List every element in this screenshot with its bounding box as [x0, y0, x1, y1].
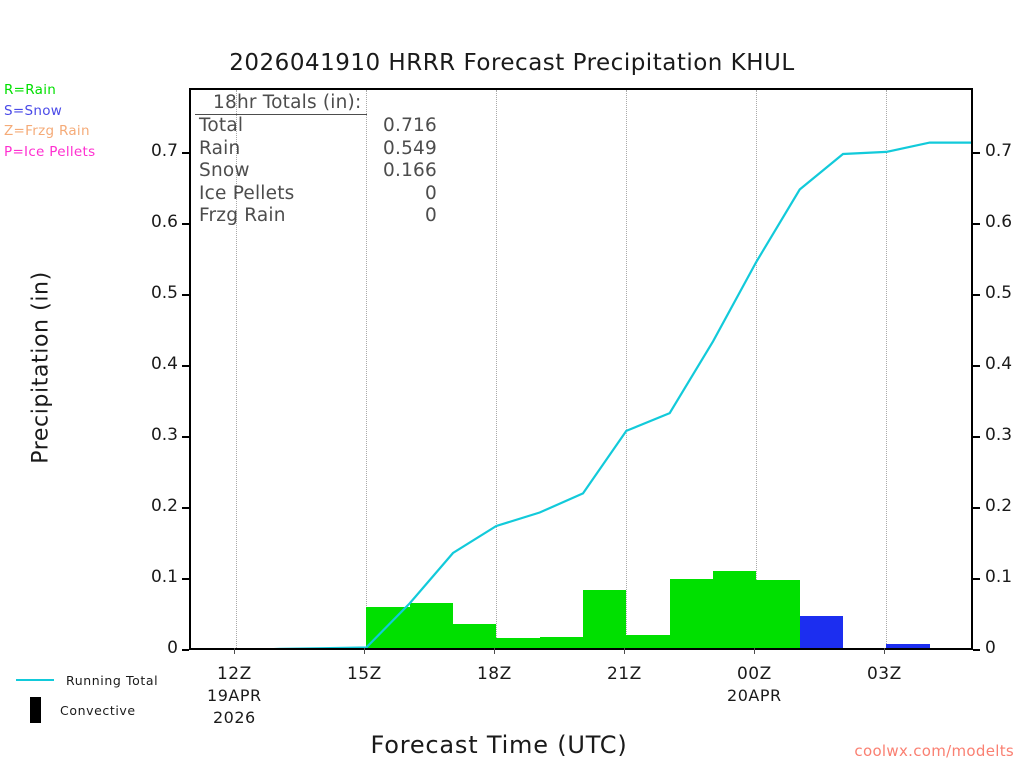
totals-row: Ice Pellets0: [195, 183, 437, 206]
watermark: coolwx.com/modelts: [854, 742, 1014, 760]
totals-row-value: 0.716: [383, 115, 437, 138]
x-axis-tick-mark: [234, 648, 235, 654]
y-axis-tick-label-left: 0.6: [130, 212, 178, 232]
plot-area: RRRRRRRRRRRRSSSS 18hr Totals (in): Total…: [189, 88, 973, 650]
totals-row-label: Ice Pellets: [199, 183, 425, 206]
legend-label: Convective: [60, 703, 136, 718]
x-axis-tick-label: 18Z: [439, 664, 549, 684]
y-axis-tick-label-right: 0.6: [985, 212, 1024, 232]
totals-row-value: 0: [425, 183, 437, 206]
totals-row-label: Total: [199, 115, 383, 138]
totals-row: Snow0.166: [195, 160, 437, 183]
x-axis-tick-label: 00Z: [699, 664, 809, 684]
y-axis-tick-label-right: 0.2: [985, 496, 1024, 516]
y-axis-tick-label-right: 0.5: [985, 283, 1024, 303]
y-axis-tick-label-left: 0.7: [130, 141, 178, 161]
y-axis-tick-label-left: 0.1: [130, 567, 178, 587]
y-axis-tick-mark-left: [182, 223, 189, 225]
totals-row-label: Frzg Rain: [199, 205, 425, 228]
totals-heading: 18hr Totals (in):: [195, 92, 367, 115]
totals-summary-box: 18hr Totals (in): Total0.716Rain0.549Sno…: [195, 92, 437, 228]
y-axis-tick-mark-left: [182, 365, 189, 367]
y-axis-tick-mark-right: [973, 223, 980, 225]
x-axis-tick-label: 21Z: [569, 664, 679, 684]
x-axis-tick-mark: [754, 648, 755, 654]
x-axis-date-label: 20APR: [699, 686, 809, 705]
totals-row-value: 0.549: [383, 138, 437, 161]
y-axis-tick-label-right: 0: [985, 638, 1024, 658]
totals-row-label: Snow: [199, 160, 383, 183]
totals-row-value: 0: [425, 205, 437, 228]
y-axis-tick-label-right: 0.4: [985, 354, 1024, 374]
y-axis-tick-mark-right: [973, 294, 980, 296]
y-axis-tick-mark-left: [182, 507, 189, 509]
phase-legend-item-2: Z=Frzg Rain: [4, 121, 95, 142]
x-axis-tick-label: 12Z: [179, 664, 289, 684]
legend-label: Running Total: [66, 673, 158, 688]
legend-item-running-total: Running Total: [10, 665, 158, 695]
y-axis-tick-mark-left: [182, 578, 189, 580]
totals-row: Rain0.549: [195, 138, 437, 161]
totals-row: Frzg Rain0: [195, 205, 437, 228]
chart-page: 2026041910 HRRR Forecast Precipitation K…: [0, 0, 1024, 768]
series-legend: Running TotalConvective: [10, 665, 158, 725]
x-axis-tick-mark: [884, 648, 885, 654]
y-axis-tick-label-left: 0.3: [130, 425, 178, 445]
y-axis-tick-mark-left: [182, 436, 189, 438]
totals-row-label: Rain: [199, 138, 383, 161]
totals-row-value: 0.166: [383, 160, 437, 183]
page-title: 2026041910 HRRR Forecast Precipitation K…: [0, 50, 1024, 76]
totals-rows: Total0.716Rain0.549Snow0.166Ice Pellets0…: [195, 115, 437, 228]
y-axis-tick-mark-left: [182, 152, 189, 154]
legend-item-convective: Convective: [10, 695, 158, 725]
phase-legend-item-1: S=Snow: [4, 101, 95, 122]
y-axis-tick-label-left: 0.4: [130, 354, 178, 374]
x-axis-tick-label: 03Z: [829, 664, 939, 684]
y-axis-tick-label-right: 0.3: [985, 425, 1024, 445]
x-axis-tick-mark: [364, 648, 365, 654]
x-axis-tick-mark: [624, 648, 625, 654]
x-axis-title: Forecast Time (UTC): [189, 731, 809, 759]
y-axis-tick-mark-right: [973, 578, 980, 580]
y-axis-tick-mark-right: [973, 365, 980, 367]
phase-legend-item-3: P=Ice Pellets: [4, 142, 95, 163]
x-axis-tick-mark: [494, 648, 495, 654]
y-axis-tick-mark-right: [973, 649, 980, 651]
x-axis-date-label: 19APR: [179, 686, 289, 705]
y-axis-tick-label-right: 0.7: [985, 141, 1024, 161]
running-total-line-swatch: [16, 679, 54, 681]
y-axis-title: Precipitation (in): [29, 178, 54, 558]
x-axis-year-label: 2026: [179, 708, 289, 727]
totals-row: Total0.716: [195, 115, 437, 138]
y-axis-tick-mark-right: [973, 152, 980, 154]
phase-legend-item-0: R=Rain: [4, 80, 95, 101]
y-axis-tick-mark-left: [182, 294, 189, 296]
precip-phase-legend: R=RainS=SnowZ=Frzg RainP=Ice Pellets: [4, 80, 95, 162]
x-axis-tick-label: 15Z: [309, 664, 419, 684]
y-axis-tick-label-left: 0.2: [130, 496, 178, 516]
y-axis-tick-mark-right: [973, 436, 980, 438]
y-axis-tick-mark-right: [973, 507, 980, 509]
convective-bar-swatch: [30, 697, 41, 723]
y-axis-tick-label-left: 0: [130, 638, 178, 658]
y-axis-tick-mark-left: [182, 649, 189, 651]
y-axis-tick-label-left: 0.5: [130, 283, 178, 303]
y-axis-tick-label-right: 0.1: [985, 567, 1024, 587]
